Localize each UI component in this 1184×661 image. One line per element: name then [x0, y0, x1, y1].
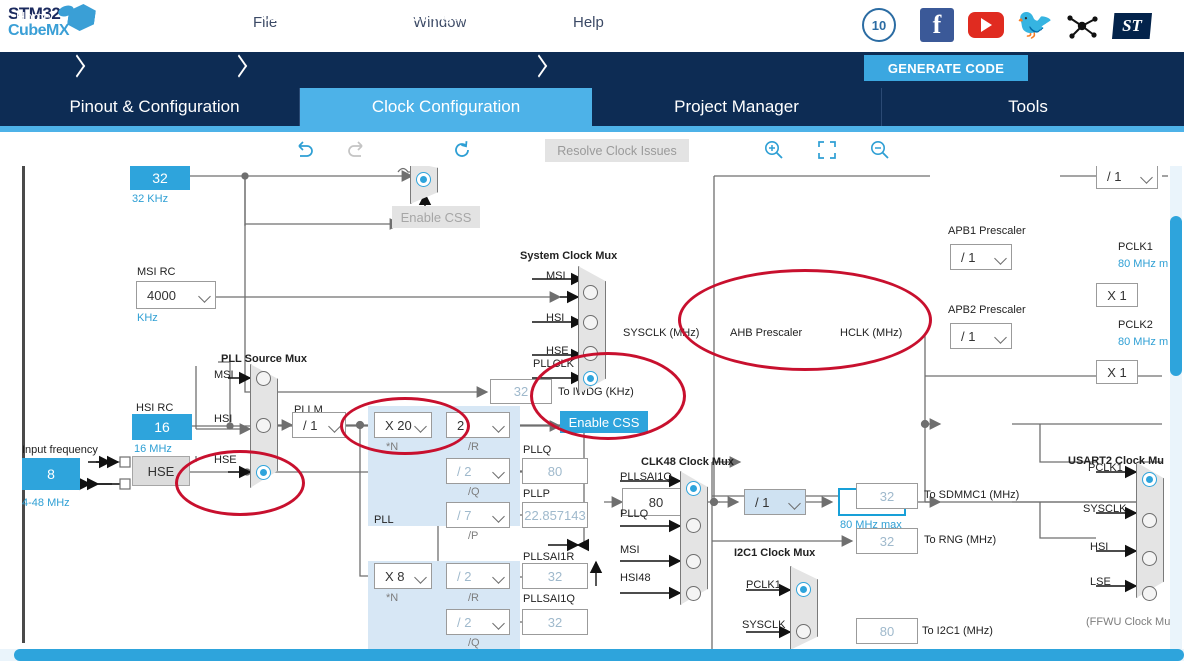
vertical-scrollbar-thumb[interactable]	[1170, 216, 1182, 376]
chevron-down-icon	[327, 413, 345, 437]
clk48-mux-input-pllq: PLLQ	[620, 508, 648, 520]
pll-source-mux-radio-hse[interactable]	[256, 465, 271, 480]
zoom-out-icon[interactable]	[868, 138, 892, 162]
breadcrumb-chevron-icon	[232, 56, 254, 82]
pll-p-value: / 7	[447, 508, 491, 523]
pll-source-mux-title: PLL Source Mux	[221, 353, 307, 365]
breadcrumb-chevron-icon	[70, 56, 92, 82]
pllsai1-q-value: / 2	[447, 615, 491, 630]
apb2-prescaler-label: APB2 Prescaler	[948, 304, 1026, 316]
pclk1-max-label: 80 MHz m	[1118, 258, 1168, 270]
ahb-prescaler-value: / 1	[745, 495, 787, 510]
i2c1-mux-input-sysclk: SYSCLK	[742, 619, 785, 631]
pllm-value: / 1	[293, 418, 327, 433]
system-clock-mux-input-msi: MSI	[546, 270, 566, 282]
clk48-mux-input-pllsai1q: PLLSAI1Q	[620, 471, 672, 483]
chevron-down-icon	[413, 413, 431, 437]
pllsai1-q-sub: /Q	[468, 637, 480, 649]
chevron-down-icon	[491, 413, 509, 437]
system-enable-css-button[interactable]: Enable CSS	[560, 411, 648, 433]
ahb-prescaler-label: AHB Prescaler	[730, 327, 802, 339]
clk48-mux-radio-msi[interactable]	[686, 554, 701, 569]
usart2-mux-radio-pclk1[interactable]	[1142, 472, 1157, 487]
pll-q-sub: /Q	[468, 486, 480, 498]
undo-icon[interactable]	[292, 138, 316, 162]
pllsai1-r-select[interactable]: / 2	[446, 563, 510, 589]
i2c1-out-value-box: 80	[856, 618, 918, 644]
pllsai1-q-select[interactable]: / 2	[446, 609, 510, 635]
apb1-prescaler-value: / 1	[951, 250, 993, 265]
menu-bar: STM32 CubeMX File Window Help 10 f 🐦 ST	[0, 0, 1184, 52]
hsi-rc-title: HSI RC	[136, 402, 173, 414]
youtube-icon[interactable]	[968, 8, 1004, 44]
pllsai1-n-value: X 8	[375, 569, 413, 584]
system-clock-mux-input-pllclk: PLLCLK	[533, 358, 574, 370]
lse-mux-radio-0[interactable]	[416, 172, 431, 187]
tab-pinout-configuration[interactable]: Pinout & Configuration	[10, 88, 300, 126]
usart2-mux-radio-sysclk[interactable]	[1142, 513, 1157, 528]
system-clock-mux-radio-pllclk[interactable]	[583, 371, 598, 386]
clock-tree-canvas[interactable]: 32 32 KHz Enable CSS 32 To IWDG (KHz) MS…	[0, 166, 1184, 661]
iwdg-label: To IWDG (KHz)	[558, 386, 634, 398]
i2c1-mux-radio-sysclk[interactable]	[796, 624, 811, 639]
breadcrumb-file[interactable]: 01-blinkLED.ioc - Clock Configuration	[263, 9, 496, 24]
pllsai1q-label: PLLSAI1Q	[523, 593, 575, 605]
usart2-mux-radio-lse[interactable]	[1142, 586, 1157, 601]
usart2-below-title: (FFWU Clock Mux	[1086, 616, 1176, 628]
input-frequency-title: Input frequency	[22, 444, 98, 456]
iwdg-value-box: 32	[490, 379, 552, 404]
chevron-down-icon	[413, 564, 431, 588]
msi-rc-unit: KHz	[137, 312, 158, 324]
msi-rc-value: 4000	[137, 288, 197, 303]
pllsai1r-value-box: 32	[522, 563, 588, 589]
pllm-select[interactable]: / 1	[292, 412, 346, 438]
chevron-down-icon	[787, 490, 805, 514]
usart2-mux-input-hsi: HSI	[1090, 541, 1108, 553]
breadcrumb-chevron-icon	[532, 56, 554, 82]
clk48-mux-input-hsi48: HSI48	[620, 572, 651, 584]
chevron-down-icon	[491, 503, 509, 527]
lse-unit-label: 32 KHz	[132, 193, 168, 205]
clk48-mux-radio-pllsai1q[interactable]	[686, 481, 701, 496]
chevron-down-icon	[491, 564, 509, 588]
fit-to-screen-icon[interactable]	[815, 138, 839, 162]
system-clock-mux-radio-hsi[interactable]	[583, 315, 598, 330]
rng-label: To RNG (MHz)	[924, 534, 996, 546]
input-frequency-box[interactable]: 8	[22, 458, 80, 490]
clk48-mux-input-msi: MSI	[620, 544, 640, 556]
pclk2-label: PCLK2	[1118, 319, 1153, 331]
pll-q-select[interactable]: / 2	[446, 458, 510, 484]
pll-r-select[interactable]: 2	[446, 412, 510, 438]
pllsai1-n-sub: *N	[386, 592, 398, 604]
network-icon[interactable]	[1064, 8, 1100, 44]
sysclk-label: SYSCLK (MHz)	[623, 327, 699, 339]
pll-n-sub: *N	[386, 441, 398, 453]
pll-group-label: PLL	[374, 514, 394, 526]
pll-p-select[interactable]: / 7	[446, 502, 510, 528]
redo-icon[interactable]	[345, 138, 369, 162]
hsi-rc-value-box[interactable]: 16	[132, 414, 192, 440]
pllsai1r-label: PLLSAI1R	[523, 551, 574, 563]
system-clock-mux-radio-msi[interactable]	[583, 285, 598, 300]
i2c1-mux-input-pclk1: PCLK1	[746, 579, 781, 591]
pll-r-sub: /R	[468, 441, 479, 453]
tab-tools[interactable]: Tools	[882, 88, 1174, 126]
pll-n-select[interactable]: X 20	[374, 412, 432, 438]
canvas-left-rail	[22, 166, 25, 643]
usart2-mux-input-sysclk: SYSCLK	[1083, 503, 1126, 515]
pllq-value-box: 80	[522, 458, 588, 484]
pll-n-value: X 20	[375, 418, 413, 433]
pllp-value-box: 22.857143	[522, 502, 588, 528]
apb1-timer-box[interactable]: X 1	[1096, 283, 1138, 307]
pllsai1-r-sub: /R	[468, 592, 479, 604]
pclk2-max-label: 80 MHz m	[1118, 336, 1168, 348]
breadcrumb-home[interactable]: Home	[16, 9, 51, 24]
top-right-prescaler-value: / 1	[1097, 169, 1139, 184]
system-clock-mux-radio-hse[interactable]	[583, 346, 598, 361]
chevron-down-icon	[993, 245, 1011, 269]
clk48-mux-radio-hsi48[interactable]	[686, 586, 701, 601]
hclk-label: HCLK (MHz)	[840, 327, 902, 339]
pllp-label: PLLP	[523, 488, 550, 500]
zoom-in-icon[interactable]	[762, 138, 786, 162]
clk48-mux-title: CLK48 Clock Mux	[641, 456, 734, 468]
apb2-prescaler-value: / 1	[951, 329, 993, 344]
lse-enable-css-button[interactable]: Enable CSS	[392, 206, 480, 228]
apb1-prescaler-select[interactable]: / 1	[950, 244, 1012, 270]
usart2-mux-input-pclk1: PCLK1	[1088, 462, 1123, 474]
main-tabs: Pinout & Configuration Clock Configurati…	[0, 85, 1184, 132]
system-clock-mux-input-hsi: HSI	[546, 312, 564, 324]
usart2-mux-radio-hsi[interactable]	[1142, 551, 1157, 566]
tab-project-manager[interactable]: Project Manager	[592, 88, 882, 126]
hse-box[interactable]: HSE	[132, 456, 190, 486]
pll-r-value: 2	[447, 418, 491, 433]
chevron-down-icon	[491, 459, 509, 483]
breadcrumb-mcu[interactable]: STM32L431RCTx	[104, 9, 208, 24]
chevron-down-icon	[1139, 166, 1157, 188]
resolve-clock-issues-button[interactable]: Resolve Clock Issues	[545, 139, 689, 162]
sdmmc1-label: To SDMMC1 (MHz)	[924, 489, 1019, 501]
ahb-prescaler-select[interactable]: / 1	[744, 489, 806, 515]
pllsai1-r-value: / 2	[447, 569, 491, 584]
system-clock-mux-title: System Clock Mux	[520, 250, 617, 262]
pllq-label: PLLQ	[523, 444, 551, 456]
chevron-down-icon	[197, 282, 215, 308]
tab-clock-configuration[interactable]: Clock Configuration	[300, 88, 592, 126]
msi-rc-select[interactable]: 4000	[136, 281, 216, 309]
badge-number: 10	[872, 18, 886, 33]
input-frequency-range: 4-48 MHz	[22, 497, 70, 509]
apb2-prescaler-select[interactable]: / 1	[950, 323, 1012, 349]
lse-value-box[interactable]: 32	[130, 166, 190, 190]
chevron-down-icon	[993, 324, 1011, 348]
apb2-timer-box[interactable]: X 1	[1096, 360, 1138, 384]
pll-q-value: / 2	[447, 464, 491, 479]
pclk1-label: PCLK1	[1118, 241, 1153, 253]
chevron-down-icon	[491, 610, 509, 634]
pllsai1-n-select[interactable]: X 8	[374, 563, 432, 589]
i2c1-out-label: To I2C1 (MHz)	[922, 625, 993, 637]
apb1-prescaler-label: APB1 Prescaler	[948, 225, 1026, 237]
clk48-mux-radio-pllq[interactable]	[686, 518, 701, 533]
hsi-rc-unit: 16 MHz	[134, 443, 172, 455]
i2c1-mux-radio-pclk1[interactable]	[796, 582, 811, 597]
pll-source-mux-input-msi: MSI	[214, 369, 234, 381]
st-logo-icon[interactable]: ST	[1112, 8, 1148, 44]
pll-source-mux-input-hse: HSE	[214, 454, 237, 466]
i2c1-mux-title: I2C1 Clock Mux	[734, 547, 815, 559]
logo-line2: CubeMX	[8, 22, 118, 40]
generate-code-button[interactable]: GENERATE CODE	[864, 55, 1028, 81]
rng-value-box: 32	[856, 528, 918, 554]
badge-10-years-icon[interactable]: 10	[862, 8, 898, 44]
pll-source-mux-radio-hsi[interactable]	[256, 418, 271, 433]
usart2-mux-input-lse: LSE	[1090, 576, 1111, 588]
sdmmc1-value-box: 32	[856, 483, 918, 509]
reset-icon[interactable]	[450, 138, 474, 162]
twitter-icon[interactable]: 🐦	[1016, 8, 1052, 44]
msi-rc-title: MSI RC	[137, 266, 176, 278]
horizontal-scrollbar-thumb[interactable]	[14, 649, 1184, 661]
pllsai1q-value-box: 32	[522, 609, 588, 635]
top-right-prescaler-select[interactable]: / 1	[1096, 166, 1158, 189]
menu-item-help[interactable]: Help	[573, 14, 604, 31]
system-clock-mux-input-hse: HSE	[546, 345, 569, 357]
pll-source-mux-radio-msi[interactable]	[256, 371, 271, 386]
pll-p-sub: /P	[468, 530, 478, 542]
pll-source-mux-input-hsi: HSI	[214, 413, 232, 425]
facebook-icon[interactable]: f	[920, 8, 956, 44]
